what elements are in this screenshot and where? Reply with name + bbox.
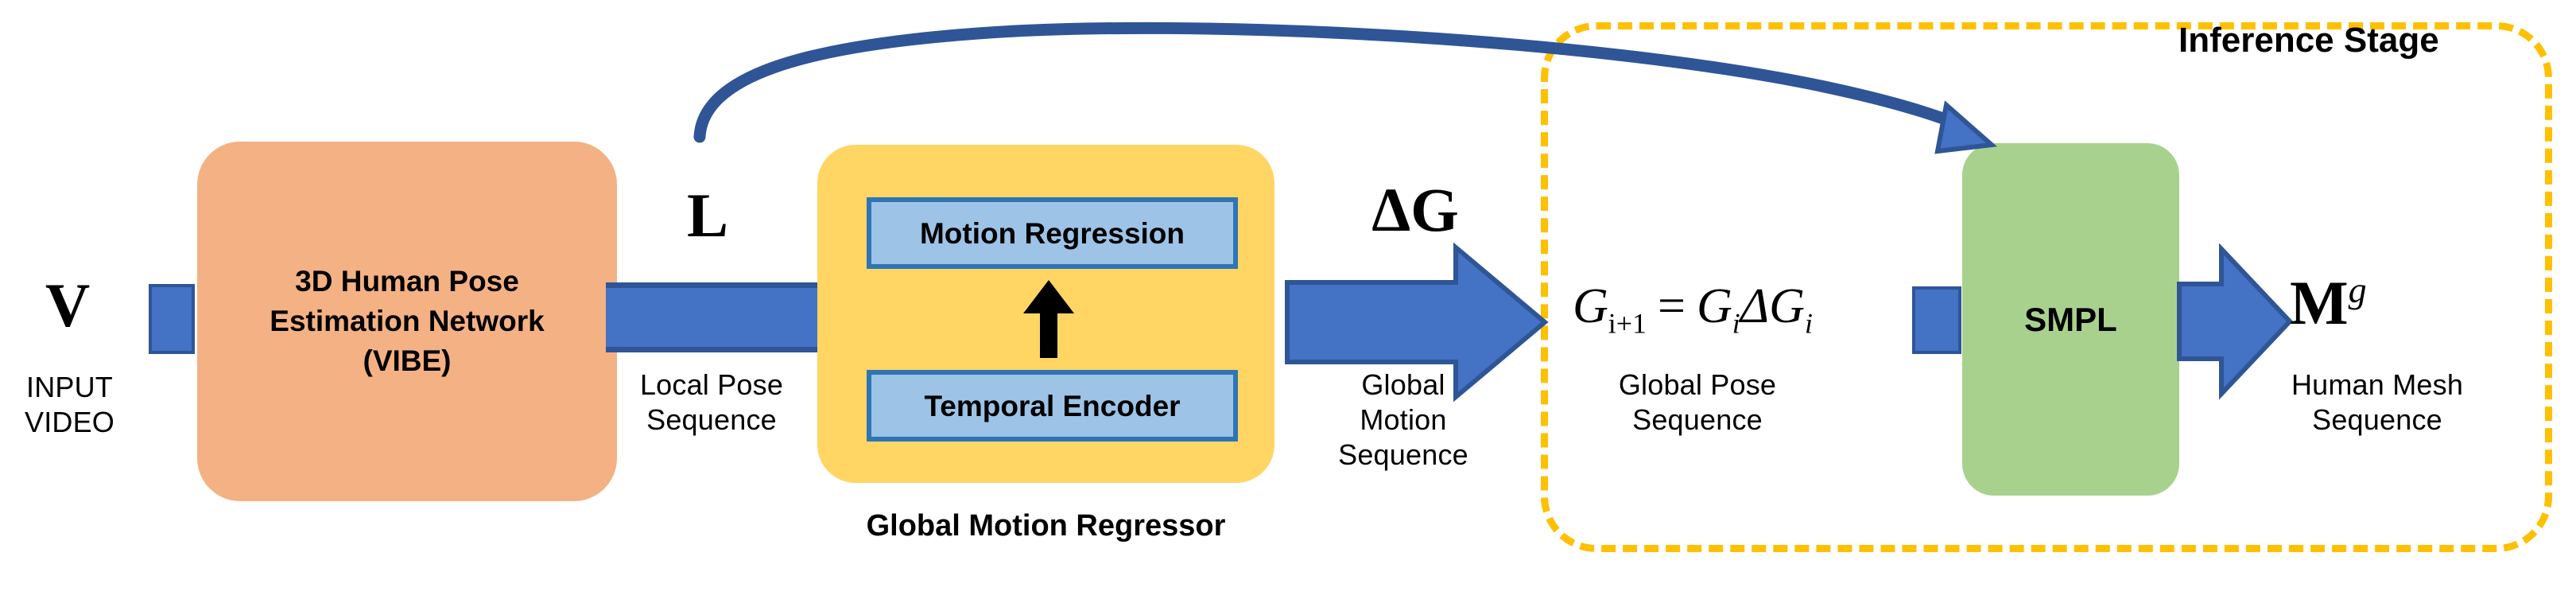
diagram-canvas: Inference Stage V INPUT VIDEO 3D Human P… — [0, 0, 2576, 603]
feedback-curved-arrow — [0, 0, 2576, 603]
